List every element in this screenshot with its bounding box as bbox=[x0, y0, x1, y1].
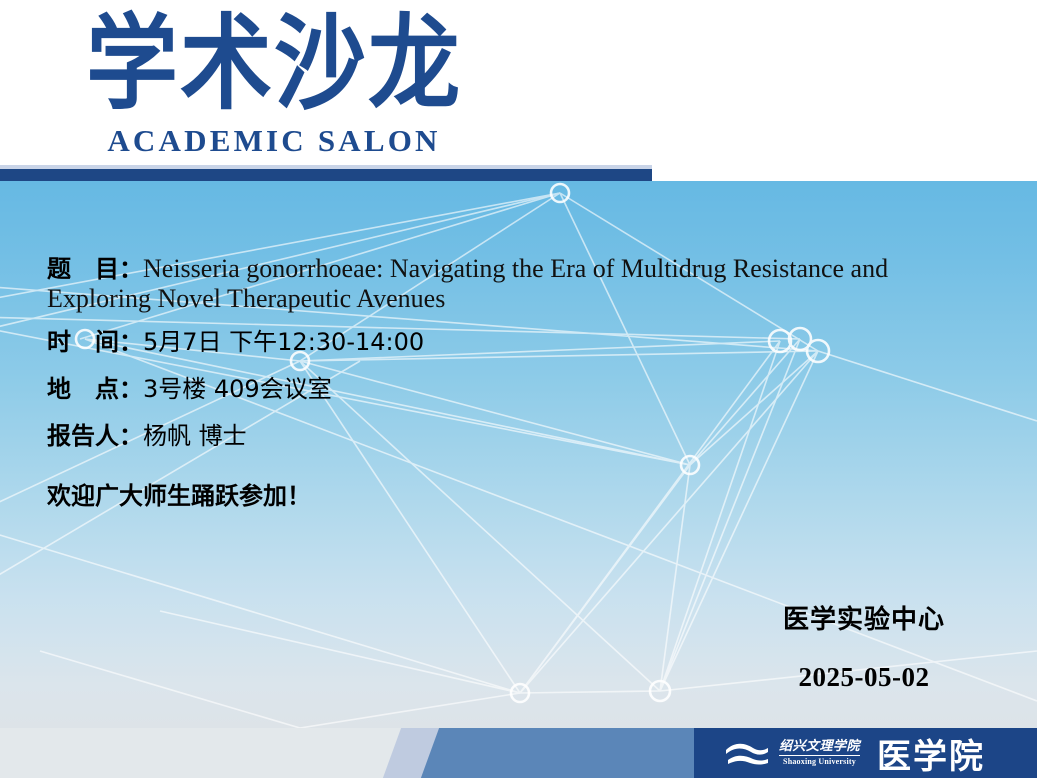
wave-mark-icon bbox=[724, 739, 770, 767]
poster-header: 学术沙龙 ACADEMIC SALON bbox=[0, 0, 1037, 170]
main-panel: 题 目：Neisseria gonorrhoeae: Navigating th… bbox=[0, 181, 1037, 728]
time-row: 时 间：5月7日 下午12:30-14:00 bbox=[47, 328, 977, 357]
university-names: 绍兴文理学院 Shaoxing University bbox=[779, 740, 860, 766]
university-name-divider bbox=[779, 755, 860, 756]
university-name-en: Shaoxing University bbox=[783, 758, 856, 766]
university-logo: 绍兴文理学院 Shaoxing University 医学院 bbox=[724, 728, 985, 778]
time-value: 5月7日 下午12:30-14:00 bbox=[143, 328, 424, 356]
welcome-message: 欢迎广大师生踊跃参加！ bbox=[47, 476, 977, 511]
title-value: Neisseria gonorrhoeae: Navigating the Er… bbox=[47, 254, 888, 313]
university-name-cn: 绍兴文理学院 bbox=[779, 740, 860, 753]
signature-block: 医学实验中心 2025-05-02 bbox=[739, 599, 989, 693]
title-label: 题 目： bbox=[47, 255, 143, 283]
poster-root: 学术沙龙 ACADEMIC SALON bbox=[0, 0, 1037, 778]
logo-chinese-title: 学术沙龙 bbox=[78, 6, 470, 123]
place-value: 3号楼 409会议室 bbox=[143, 375, 332, 403]
place-label: 地 点： bbox=[47, 375, 143, 403]
signature-date: 2025-05-02 bbox=[739, 662, 989, 693]
time-label: 时 间： bbox=[47, 328, 143, 356]
academic-salon-logo: 学术沙龙 ACADEMIC SALON bbox=[78, 6, 470, 159]
poster-footer: 绍兴文理学院 Shaoxing University 医学院 bbox=[0, 728, 1037, 778]
signature-organization: 医学实验中心 bbox=[739, 599, 989, 636]
logo-english-subtitle: ACADEMIC SALON bbox=[78, 123, 470, 159]
college-name: 医学院 bbox=[877, 729, 985, 778]
poster-content: 题 目：Neisseria gonorrhoeae: Navigating th… bbox=[47, 249, 977, 511]
header-rule-navy bbox=[0, 169, 652, 181]
speaker-label: 报告人： bbox=[47, 422, 143, 450]
place-row: 地 点：3号楼 409会议室 bbox=[47, 375, 977, 404]
title-row: 题 目：Neisseria gonorrhoeae: Navigating th… bbox=[47, 249, 977, 314]
speaker-value: 杨帆 博士 bbox=[143, 422, 247, 450]
speaker-row: 报告人：杨帆 博士 bbox=[47, 422, 977, 451]
